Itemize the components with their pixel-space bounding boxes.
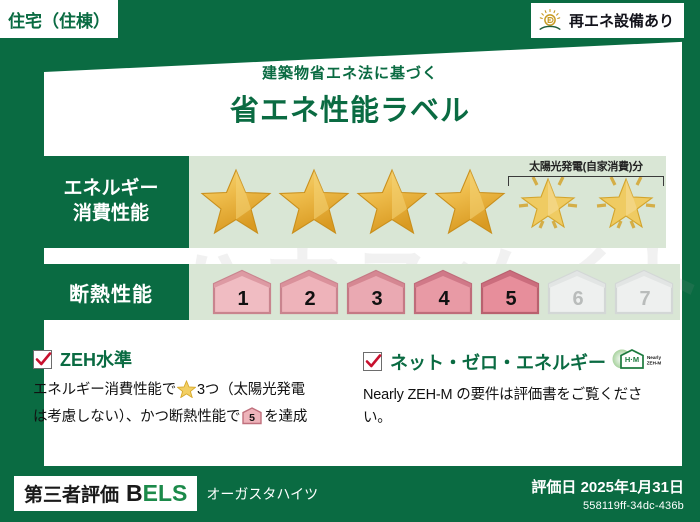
title-block: 建築物省エネ法に基づく 省エネ性能ラベル	[0, 62, 700, 129]
svg-text:ZEH-M: ZEH-M	[647, 361, 662, 366]
svg-text:5: 5	[249, 412, 255, 424]
grade-badge-3-value: 3	[345, 288, 409, 311]
check-icon	[365, 353, 382, 370]
energy-label-root: ハウスメイト 住宅（住棟） 再エネ設備あり 建築物省エネ法に基づく 省エネ性能ラ…	[0, 0, 700, 522]
netzero-section: ネット・ゼロ・エネルギー H·M Nearly ZEH-	[363, 346, 666, 434]
evaluation-id: 558119ff-34dc-436b	[531, 500, 684, 512]
netzero-checkbox-checked	[363, 352, 382, 371]
nearly-zehm-logo: H·M Nearly ZEH-M	[610, 346, 664, 377]
title-subtitle: 建築物省エネ法に基づく	[0, 62, 700, 83]
check-icon	[35, 351, 52, 368]
star-filled-4	[431, 163, 509, 241]
insulation-label-text: 断熱性能	[69, 278, 153, 307]
bels-plate: 第三者評価 BELS	[14, 476, 197, 511]
netzero-body: Nearly ZEH-M の要件は評価書をご覧ください。	[363, 384, 666, 431]
energy-row-body: 太陽光発電(自家消費)分	[189, 156, 666, 248]
energy-label-line2: 消費性能	[73, 202, 149, 227]
grade-badge-7-value: 7	[613, 288, 677, 311]
info-columns: ZEH水準 エネルギー消費性能で3つ（太陽光発電 は考慮しない）、かつ断熱性能で…	[33, 346, 666, 434]
grade-badge-3: 3	[345, 269, 409, 315]
building-type-tag: 住宅（住棟）	[0, 0, 118, 38]
energy-row-label: エネルギー 消費性能	[33, 156, 189, 248]
star-filled-3	[353, 163, 431, 241]
insulation-grade-scale: 1 2 3	[211, 269, 680, 315]
building-name: オーガスタハイツ	[206, 484, 318, 504]
grade-badge-7: 7	[613, 269, 677, 315]
star-solar-6	[587, 163, 665, 241]
footer-right: 評価日 2025年1月31日 558119ff-34dc-436b	[531, 476, 684, 512]
renewable-badge-label: 再エネ設備あり	[569, 10, 674, 31]
grade-badge-6: 6	[546, 269, 610, 315]
third-party-label: 第三者評価	[24, 480, 119, 507]
svg-text:Nearly: Nearly	[647, 355, 661, 360]
zeh-section: ZEH水準 エネルギー消費性能で3つ（太陽光発電 は考慮しない）、かつ断熱性能で…	[33, 346, 363, 434]
netzero-heading: ネット・ゼロ・エネルギー	[390, 349, 606, 375]
renewable-equipment-badge: 再エネ設備あり	[531, 3, 684, 38]
energy-label-line1: エネルギー	[63, 177, 158, 202]
evaluation-date: 評価日 2025年1月31日	[531, 476, 684, 497]
insulation-row-body: 1 2 3	[189, 264, 680, 320]
footer-left: 第三者評価 BELS オーガスタハイツ	[14, 476, 318, 511]
star-filled-1	[197, 163, 275, 241]
grade-badge-4: 4	[412, 269, 476, 315]
grade-badge-4-value: 4	[412, 288, 476, 311]
inline-star-icon	[177, 380, 196, 406]
star-solar-5	[509, 163, 587, 241]
svg-text:H·M: H·M	[625, 355, 639, 364]
insulation-row-label: 断熱性能	[33, 264, 189, 320]
zeh-checkbox-checked	[33, 350, 52, 369]
title-main: 省エネ性能ラベル	[0, 87, 700, 129]
zeh-heading: ZEH水準	[60, 346, 132, 372]
grade-badge-1-value: 1	[211, 288, 275, 311]
energy-performance-row: エネルギー 消費性能 太陽光発電(自家消費)分	[33, 156, 666, 248]
building-type-label: 住宅（住棟）	[8, 7, 110, 32]
bels-logo-els: ELS	[143, 480, 188, 507]
zeh-body-part3: は考慮しない）、かつ断熱性能で	[33, 409, 240, 425]
zeh-body-part2: 3つ（太陽光発電	[197, 382, 305, 398]
inline-house-grade-icon: 5	[241, 407, 263, 433]
insulation-performance-row: 断熱性能 1 2	[33, 264, 666, 320]
netzero-heading-row: ネット・ゼロ・エネルギー H·M Nearly ZEH-	[363, 346, 666, 377]
grade-badge-6-value: 6	[546, 288, 610, 311]
zeh-heading-row: ZEH水準	[33, 346, 363, 372]
star-rating	[197, 163, 665, 241]
grade-badge-5: 5	[479, 269, 543, 315]
grade-badge-5-value: 5	[479, 288, 543, 311]
star-filled-2	[275, 163, 353, 241]
zeh-body-part4: を達成	[264, 409, 307, 425]
grade-badge-2: 2	[278, 269, 342, 315]
solar-sun-icon	[537, 8, 563, 34]
bels-logo-b: B	[126, 480, 143, 507]
zeh-body: エネルギー消費性能で3つ（太陽光発電 は考慮しない）、かつ断熱性能で5を達成	[33, 379, 363, 434]
zeh-body-part1: エネルギー消費性能で	[33, 382, 176, 398]
grade-badge-2-value: 2	[278, 288, 342, 311]
grade-badge-1: 1	[211, 269, 275, 315]
